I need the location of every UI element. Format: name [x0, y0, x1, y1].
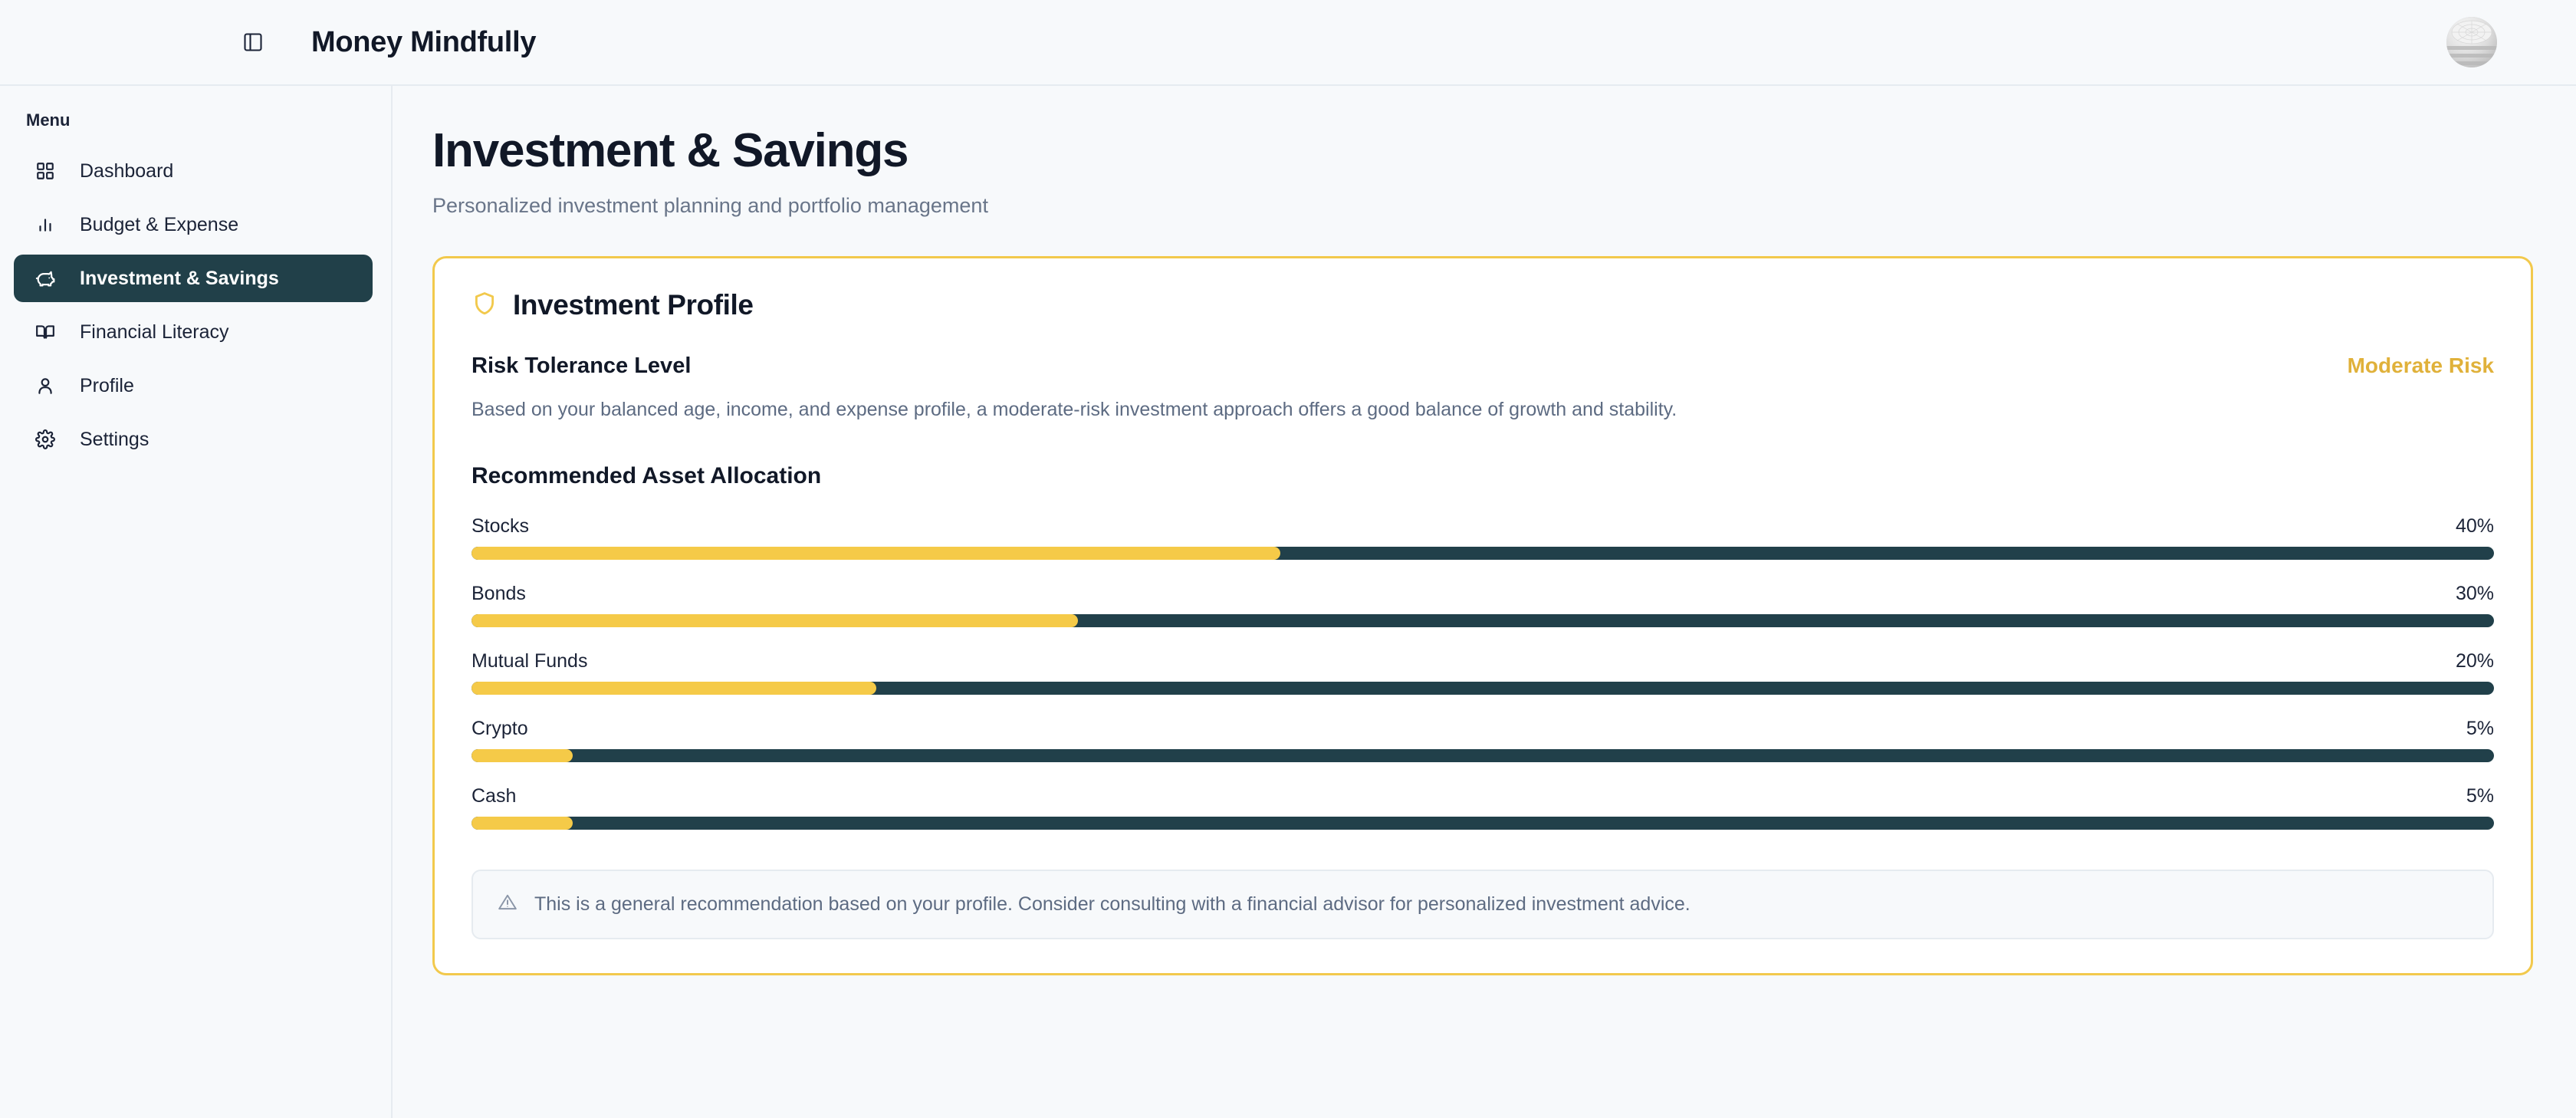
- allocation-bar-track: [472, 817, 2494, 830]
- disclaimer-text: This is a general recommendation based o…: [534, 893, 1691, 916]
- allocation-value: 30%: [2456, 583, 2494, 605]
- avatar[interactable]: [2446, 17, 2497, 67]
- allocation-title: Recommended Asset Allocation: [472, 463, 2494, 489]
- main-content: Investment & Savings Personalized invest…: [393, 86, 2576, 1118]
- allocation-row: Crypto 5%: [472, 718, 2494, 762]
- sidebar-nav: Dashboard Budget & Expense: [0, 147, 391, 463]
- bar-chart-icon: [34, 213, 57, 236]
- sidebar-item-profile[interactable]: Profile: [14, 362, 373, 409]
- allocation-label: Mutual Funds: [472, 650, 587, 672]
- sidebar-item-investment-savings[interactable]: Investment & Savings: [14, 255, 373, 302]
- sidebar-item-label: Financial Literacy: [80, 321, 229, 344]
- sidebar-section-label: Menu: [0, 110, 391, 147]
- allocation-row: Mutual Funds 20%: [472, 650, 2494, 695]
- allocation-value: 40%: [2456, 515, 2494, 538]
- allocation-bar-track: [472, 547, 2494, 560]
- allocation-label: Stocks: [472, 515, 529, 538]
- allocation-bar-fill: [472, 614, 1078, 627]
- allocation-bar-fill: [472, 682, 876, 695]
- risk-tolerance-header: Risk Tolerance Level Moderate Risk: [472, 353, 2494, 379]
- allocation-list: Stocks 40% Bonds 30%: [472, 515, 2494, 830]
- risk-tolerance-label: Risk Tolerance Level: [472, 353, 691, 379]
- risk-description: Based on your balanced age, income, and …: [472, 397, 2494, 423]
- sidebar-item-label: Budget & Expense: [80, 214, 238, 236]
- disclaimer-note: This is a general recommendation based o…: [472, 870, 2494, 939]
- body-area: Menu Dashboard: [0, 86, 2576, 1118]
- allocation-label: Bonds: [472, 583, 526, 605]
- allocation-value: 20%: [2456, 650, 2494, 672]
- sidebar-item-label: Settings: [80, 429, 149, 451]
- allocation-label: Crypto: [472, 718, 528, 740]
- allocation-bar-track: [472, 749, 2494, 762]
- sidebar-item-settings[interactable]: Settings: [14, 416, 373, 463]
- top-bar-left: Money Mindfully: [0, 26, 536, 59]
- allocation-bar-fill: [472, 817, 573, 830]
- user-icon: [34, 374, 57, 397]
- sidebar-item-dashboard[interactable]: Dashboard: [14, 147, 373, 195]
- allocation-row: Bonds 30%: [472, 583, 2494, 627]
- sidebar-item-budget-expense[interactable]: Budget & Expense: [14, 201, 373, 248]
- sidebar-item-label: Dashboard: [80, 160, 173, 182]
- top-bar-right: [2446, 17, 2539, 67]
- shield-icon: [472, 291, 498, 321]
- investment-profile-card: Investment Profile Risk Tolerance Level …: [432, 256, 2533, 975]
- app-title: Money Mindfully: [311, 26, 536, 59]
- allocation-row: Stocks 40%: [472, 515, 2494, 560]
- sidebar-toggle-icon[interactable]: [238, 27, 268, 58]
- gear-icon: [34, 428, 57, 451]
- allocation-value: 5%: [2466, 785, 2494, 807]
- risk-level-badge: Moderate Risk: [2348, 353, 2494, 378]
- allocation-bar-track: [472, 682, 2494, 695]
- allocation-value: 5%: [2466, 718, 2494, 740]
- allocation-row: Cash 5%: [472, 785, 2494, 830]
- grid-icon: [34, 159, 57, 182]
- book-open-icon: [34, 321, 57, 344]
- avatar-image: [2446, 17, 2497, 67]
- card-title: Investment Profile: [513, 289, 754, 321]
- card-header: Investment Profile: [472, 289, 2494, 321]
- allocation-bar-track: [472, 614, 2494, 627]
- top-bar: Money Mindfully: [0, 0, 2576, 86]
- sidebar-item-label: Investment & Savings: [80, 268, 279, 290]
- app-root: Money Mindfully: [0, 0, 2576, 1118]
- warning-triangle-icon: [498, 893, 517, 916]
- sidebar-item-label: Profile: [80, 375, 134, 397]
- sidebar-item-financial-literacy[interactable]: Financial Literacy: [14, 308, 373, 356]
- piggy-bank-icon: [34, 267, 57, 290]
- allocation-bar-fill: [472, 749, 573, 762]
- page-subtitle: Personalized investment planning and por…: [432, 194, 2533, 218]
- page-title: Investment & Savings: [432, 126, 2533, 176]
- allocation-bar-fill: [472, 547, 1280, 560]
- sidebar: Menu Dashboard: [0, 86, 393, 1118]
- allocation-label: Cash: [472, 785, 516, 807]
